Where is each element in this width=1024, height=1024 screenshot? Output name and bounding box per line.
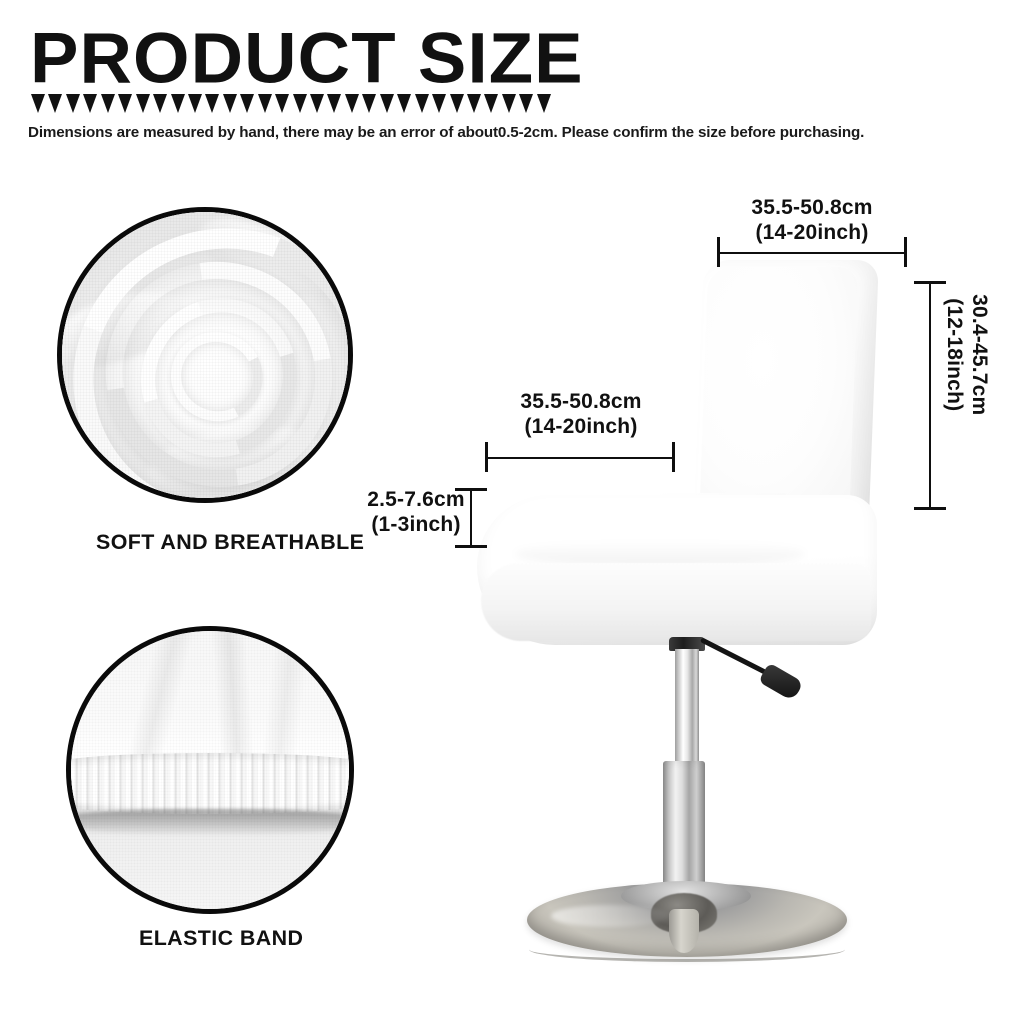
triangle-marker-icon bbox=[484, 94, 498, 113]
triangle-marker-icon bbox=[31, 94, 45, 113]
dimension-label-backrest-height: 30.4-45.7cm (12-18inch) bbox=[941, 265, 991, 445]
triangle-marker-icon bbox=[310, 94, 324, 113]
dimension-tick-top bbox=[455, 488, 487, 491]
triangle-marker-icon bbox=[275, 94, 289, 113]
triangle-marker-icon bbox=[519, 94, 533, 113]
dimension-cm-backrest-width: 35.5-50.8cm bbox=[751, 196, 872, 219]
dimension-cm-seat-thickness: 2.5-7.6cm bbox=[367, 488, 465, 511]
page-title: PRODUCT SIZE bbox=[30, 22, 584, 93]
dimension-inch-backrest-width: (14-20inch) bbox=[716, 221, 908, 246]
triangle-marker-icon bbox=[432, 94, 446, 113]
fabric-weave-texture bbox=[62, 212, 348, 498]
dimension-tick-left bbox=[717, 237, 720, 267]
triangle-marker-icon bbox=[397, 94, 411, 113]
fabric-swirl-photo bbox=[62, 212, 348, 498]
dimension-tick-bottom bbox=[914, 507, 946, 510]
feature-caption-elastic-band: ELASTIC BAND bbox=[139, 927, 303, 951]
triangle-marker-icon bbox=[136, 94, 150, 113]
feature-caption-soft-and-breathable: SOFT AND BREATHABLE bbox=[96, 531, 364, 555]
chair-base-rim bbox=[529, 937, 845, 962]
triangle-marker-icon bbox=[101, 94, 115, 113]
dimension-cm-seat-depth: 35.5-50.8cm bbox=[520, 390, 641, 413]
triangle-marker-icon bbox=[205, 94, 219, 113]
triangle-marker-icon bbox=[415, 94, 429, 113]
dimension-inch-seat-depth: (14-20inch) bbox=[486, 415, 676, 440]
dimension-line-seat-thickness bbox=[470, 489, 472, 547]
chair-gas-cylinder bbox=[675, 649, 699, 771]
triangle-marker-icon bbox=[188, 94, 202, 113]
feature-image-elastic-band bbox=[66, 626, 354, 914]
triangle-marker-icon bbox=[48, 94, 62, 113]
feature-image-soft-and-breathable bbox=[57, 207, 353, 503]
dimension-line-seat-depth bbox=[486, 457, 674, 459]
elastic-weave-texture bbox=[71, 631, 349, 909]
triangle-marker-icon bbox=[502, 94, 516, 113]
dimension-tick-top bbox=[914, 281, 946, 284]
chair-illustration bbox=[455, 245, 935, 925]
triangle-marker-icon bbox=[362, 94, 376, 113]
dimension-line-backrest-height bbox=[929, 282, 931, 510]
chair-base-highlight bbox=[551, 905, 669, 927]
triangle-marker-icon bbox=[153, 94, 167, 113]
triangle-marker-icon bbox=[450, 94, 464, 113]
dimension-cm-backrest-height: 30.4-45.7cm bbox=[968, 294, 991, 415]
triangle-marker-icon bbox=[118, 94, 132, 113]
triangle-marker-icon bbox=[327, 94, 341, 113]
triangle-marker-icon bbox=[293, 94, 307, 113]
triangle-marker-icon bbox=[240, 94, 254, 113]
triangle-marker-icon bbox=[380, 94, 394, 113]
elastic-band-photo bbox=[71, 631, 349, 909]
triangle-marker-icon bbox=[467, 94, 481, 113]
dimension-inch-backrest-height: (12-18inch) bbox=[941, 265, 966, 445]
measurement-disclaimer: Dimensions are measured by hand, there m… bbox=[28, 124, 864, 141]
triangle-marker-icon bbox=[537, 94, 551, 113]
dimension-inch-seat-thickness: (1-3inch) bbox=[361, 513, 471, 538]
dimension-tick-right bbox=[904, 237, 907, 267]
dimension-label-seat-depth: 35.5-50.8cm (14-20inch) bbox=[486, 390, 676, 440]
triangle-marker-icon bbox=[258, 94, 272, 113]
triangle-divider bbox=[31, 94, 551, 113]
triangle-marker-icon bbox=[171, 94, 185, 113]
triangle-marker-icon bbox=[223, 94, 237, 113]
dimension-tick-left bbox=[485, 442, 488, 472]
triangle-marker-icon bbox=[345, 94, 359, 113]
triangle-marker-icon bbox=[83, 94, 97, 113]
chair-height-lever-paddle bbox=[758, 662, 804, 701]
chair-seat-front-edge bbox=[481, 563, 871, 641]
dimension-line-backrest-width bbox=[718, 252, 906, 254]
product-size-infographic: PRODUCT SIZE Dimensions are measured by … bbox=[0, 0, 1024, 1024]
dimension-label-backrest-width: 35.5-50.8cm (14-20inch) bbox=[716, 196, 908, 246]
dimension-label-seat-thickness: 2.5-7.6cm (1-3inch) bbox=[361, 488, 471, 538]
dimension-tick-right bbox=[672, 442, 675, 472]
dimension-tick-bottom bbox=[455, 545, 487, 548]
triangle-marker-icon bbox=[66, 94, 80, 113]
